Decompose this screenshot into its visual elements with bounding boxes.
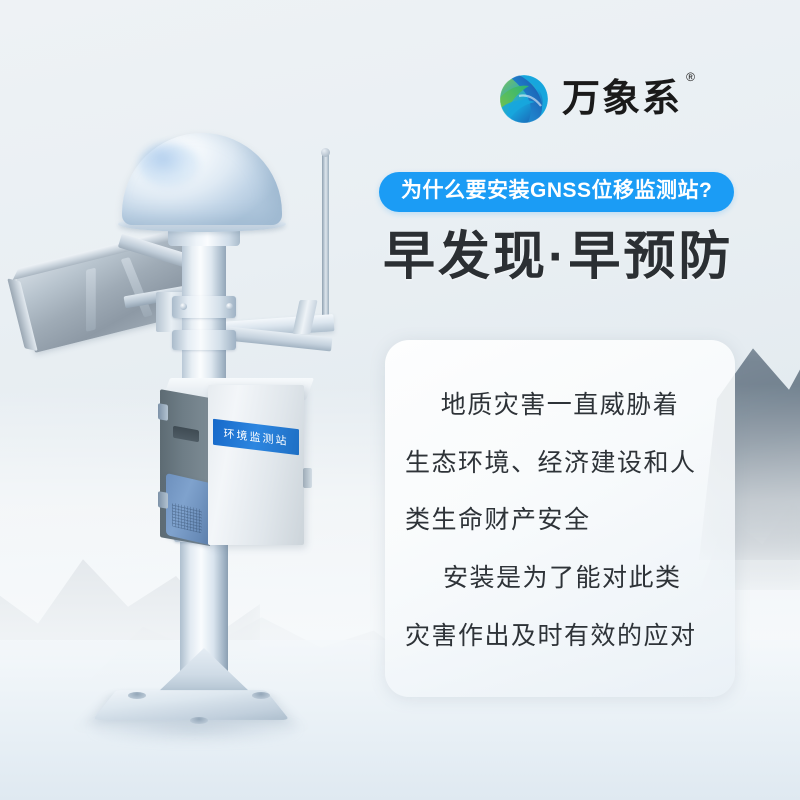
base-bolt-hole — [252, 692, 270, 699]
whip-antenna-tip-icon — [321, 148, 330, 157]
description-line-5: 灾害作出及时有效的应对 — [399, 621, 721, 651]
brand-name-text: 万象系 — [562, 78, 682, 120]
question-badge: 为什么要安装GNSS位移监测站? — [379, 172, 734, 212]
description-line-2: 生态环境、经济建设和人 — [399, 448, 721, 478]
solar-panel-rib — [86, 268, 96, 332]
base-bolt-hole — [128, 692, 146, 699]
control-box-label-text: 环境监测站 — [224, 425, 289, 449]
registered-mark: ® — [686, 71, 697, 83]
antenna-highlight — [138, 143, 200, 187]
control-box-hinge — [158, 491, 168, 509]
description-line-4: 安装是为了能对此类 — [399, 563, 721, 593]
description-card: 地质灾害一直威胁着 生态环境、经济建设和人 类生命财产安全 安装是为了能对此类 … — [385, 340, 735, 697]
base-bolt-hole — [190, 717, 208, 724]
poster-canvas: 环境监测站 — [0, 0, 800, 800]
description-line-3: 类生命财产安全 — [399, 505, 721, 535]
globe-swirl-logo-icon — [497, 72, 551, 126]
control-box-front — [208, 385, 304, 545]
monitoring-station-illustration: 环境监测站 — [0, 0, 400, 800]
description-lines: 地质灾害一直威胁着 生态环境、经济建设和人 类生命财产安全 安装是为了能对此类 … — [385, 362, 735, 679]
control-box-hinge — [158, 403, 168, 421]
brand-logo: 万象系 ® — [497, 72, 682, 126]
brand-name: 万象系 ® — [562, 80, 682, 118]
bolt-icon — [226, 303, 233, 310]
whip-antenna — [322, 152, 329, 332]
control-box-latch — [303, 468, 312, 488]
bolt-icon — [180, 303, 187, 310]
base-gusset — [158, 648, 250, 692]
mast-clamp — [172, 330, 236, 350]
page-title: 早发现·早预防 — [383, 228, 733, 288]
description-line-1: 地质灾害一直威胁着 — [399, 390, 721, 420]
